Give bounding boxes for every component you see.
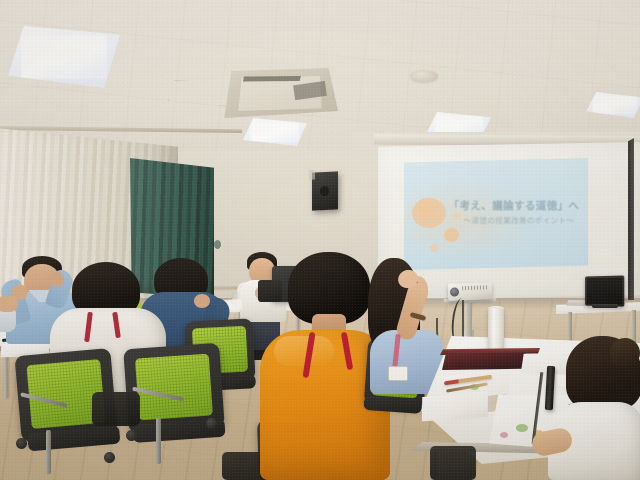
chair-caster	[126, 430, 137, 441]
ceiling-hatch	[168, 80, 236, 106]
projected-slide: 「考え、議論する道徳」へ ～道徳の授業改善のポイント～	[404, 158, 588, 270]
photo-scene: 「考え、議論する道徳」へ ～道徳の授業改善のポイント～	[0, 0, 640, 480]
wall-knob	[214, 240, 221, 249]
person-white-tshirt	[548, 336, 640, 480]
slide-circle-decor-2	[444, 228, 459, 242]
id-card	[388, 366, 408, 381]
chair-post	[46, 430, 51, 474]
person-cropped-left-edge	[0, 296, 24, 334]
projector-vents	[462, 285, 488, 290]
hand	[194, 294, 210, 308]
chair-post	[156, 418, 161, 464]
slide-circle-decor-1	[412, 198, 446, 228]
bag	[430, 446, 476, 480]
laptop-screen	[585, 275, 624, 306]
person-blue-blouse-woman	[368, 258, 446, 394]
smoke-detector-icon	[410, 70, 438, 82]
slide-title: 「考え、議論する道徳」へ	[448, 198, 580, 213]
drawing-mark	[516, 424, 528, 432]
slide-subtitle: ～道徳の授業改善のポイント～	[456, 215, 582, 226]
speaker-icon	[312, 171, 338, 210]
drawing-mark	[500, 432, 508, 438]
slide-circle-decor-3	[430, 244, 439, 252]
bag	[92, 392, 140, 426]
chair-caster	[16, 438, 27, 449]
screen-frame-edge	[628, 138, 634, 306]
chair-caster	[104, 452, 115, 463]
laptop-base	[592, 304, 618, 308]
chair-caster	[206, 418, 217, 429]
projector-lens-icon	[450, 287, 459, 296]
projector[interactable]	[448, 282, 493, 301]
air-conditioner-unit	[222, 68, 338, 118]
hand	[0, 296, 18, 312]
hair-bun	[610, 338, 640, 368]
